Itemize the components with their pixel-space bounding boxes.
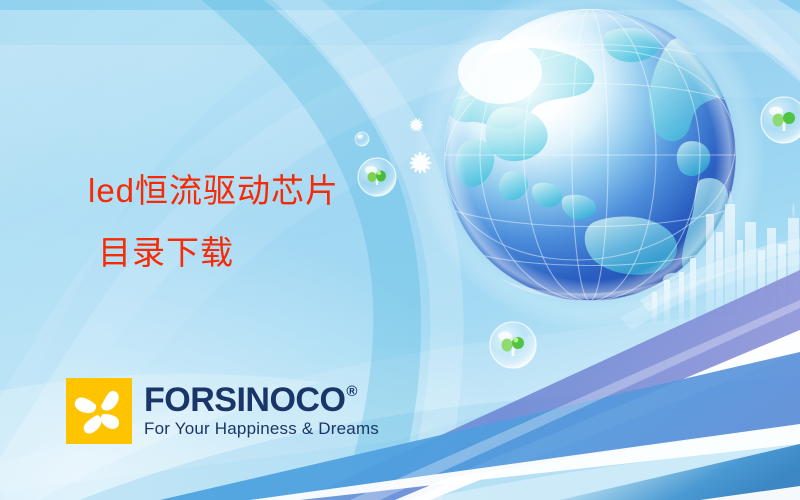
logo-text-block: FORSINOCO ® For Your Happiness & Dreams [144,383,379,439]
bubble-small-icon [355,132,369,146]
bubble-with-plant-icon [490,322,536,368]
logo-wordmark-text: FORSINOCO [144,383,345,417]
four-petal-pinwheel-icon [66,378,132,444]
bubble-with-plant-icon [358,158,396,196]
bubble-with-plant-icon [761,97,800,143]
poster-canvas: led恒流驱动芯片 目录下载 FORSINOCO ® For Your Happ… [0,0,800,500]
logo-tagline: For Your Happiness & Dreams [144,419,379,439]
company-logo[interactable]: FORSINOCO ® For Your Happiness & Dreams [66,378,379,444]
logo-wordmark: FORSINOCO ® [144,383,379,417]
registered-trademark-icon: ® [346,383,357,401]
